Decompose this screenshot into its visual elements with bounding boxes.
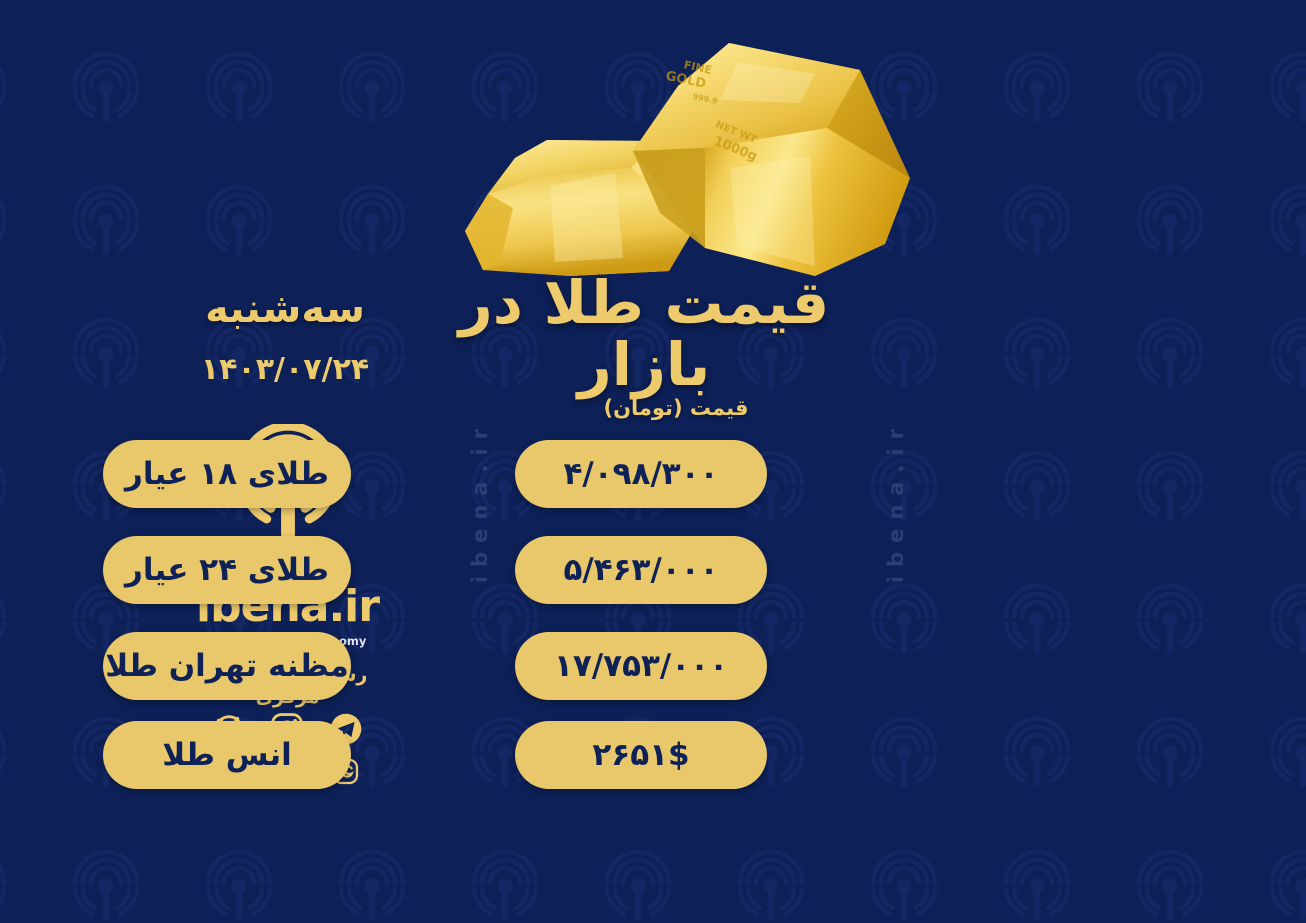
svg-text:1000g: 1000g [711, 134, 759, 165]
svg-text:FINE: FINE [683, 58, 713, 77]
row-label[interactable]: انس طلا [103, 721, 351, 789]
table-row: طلای ۲۴ عیار ۵/۴۶۳/۰۰۰ [0, 536, 1306, 604]
table-row: مظنه تهران طلا ۱۷/۷۵۳/۰۰۰ [0, 632, 1306, 700]
row-label[interactable]: طلای ۱۸ عیار [103, 440, 351, 508]
row-label[interactable]: طلای ۲۴ عیار [103, 536, 351, 604]
row-price[interactable]: ۵/۴۶۳/۰۰۰ [515, 536, 767, 604]
price-table: طلای ۱۸ عیار ۴/۰۹۸/۳۰۰ طلای ۲۴ عیار ۵/۴۶… [0, 440, 1306, 790]
svg-text:999.9: 999.9 [692, 92, 719, 106]
table-row: انس طلا ۲۶۵۱$ [0, 721, 1306, 789]
row-label[interactable]: مظنه تهران طلا [103, 632, 351, 700]
row-price[interactable]: ۱۷/۷۵۳/۰۰۰ [515, 632, 767, 700]
day-name: سه‌شنبه [160, 286, 410, 332]
svg-text:NET WT: NET WT [714, 119, 758, 146]
price-column-header: قیمت (تومان) [541, 396, 811, 420]
row-price[interactable]: ۲۶۵۱$ [515, 721, 767, 789]
row-price[interactable]: ۴/۰۹۸/۳۰۰ [515, 440, 767, 508]
table-row: طلای ۱۸ عیار ۴/۰۹۸/۳۰۰ [0, 440, 1306, 508]
infographic-canvas: FINE GOLD 999.9 NET WT 1000g قیمت طلا در… [0, 0, 1306, 923]
date-label: ۱۴۰۳/۰۷/۲۴ [160, 352, 410, 387]
svg-text:GOLD: GOLD [664, 69, 707, 92]
gold-bars-illustration: FINE GOLD 999.9 NET WT 1000g [455, 8, 925, 308]
page-title: قیمت طلا در بازار [444, 272, 844, 396]
